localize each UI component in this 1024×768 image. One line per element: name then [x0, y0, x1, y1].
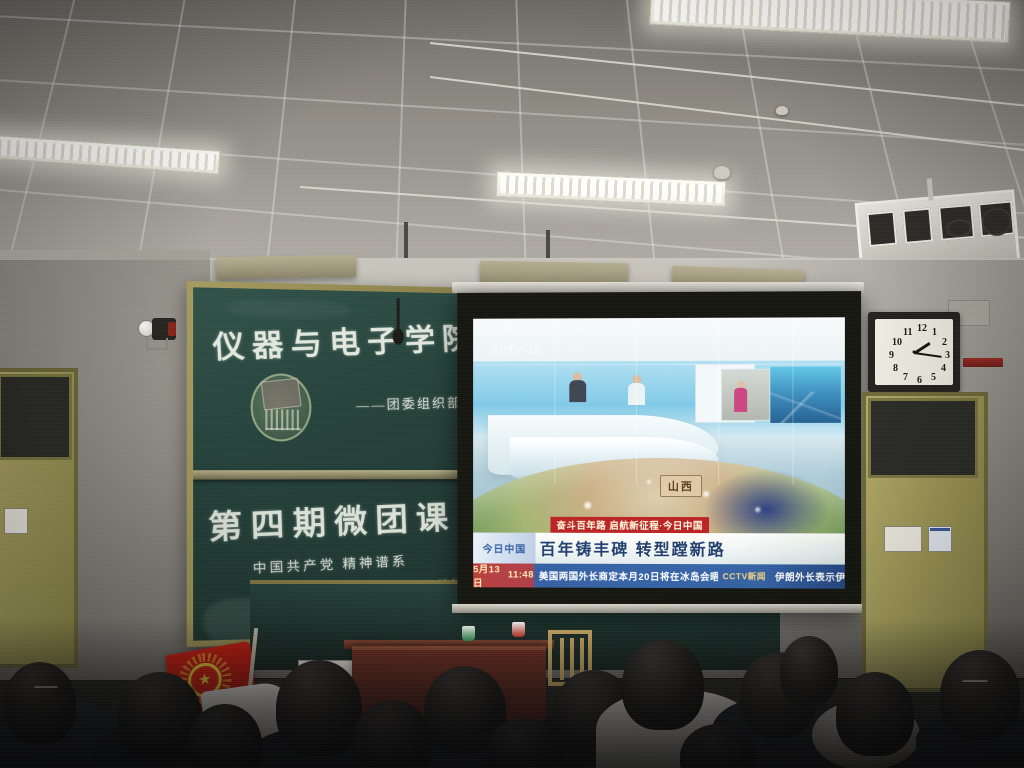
- channel-watermark: CCTV-13: [492, 345, 543, 355]
- ticker-cctv-logo: CCTV新闻: [719, 570, 770, 582]
- clock-numeral: 6: [917, 376, 922, 386]
- emergency-light-bracket: [146, 338, 168, 350]
- smoke-detector-icon: [714, 166, 730, 179]
- clock-numeral: 10: [892, 338, 902, 348]
- right-door-label: [928, 526, 952, 552]
- audience-head: [836, 672, 914, 756]
- classroom-scene: 仪器与电子学院 ——团委组织部 第四期微团课 中国共产党 精神谱系 —— 苏区精…: [0, 0, 1024, 768]
- eyeglasses-icon: [34, 686, 58, 690]
- ticker-news-tail: 伊朗外长表示伊朗将: [770, 569, 845, 583]
- ticker-news-text: 美国两国外长商定本月20日将在冰岛会晤，: [534, 568, 719, 583]
- emergency-light: [138, 318, 178, 344]
- broadcast-image: CCTV-13 山西: [473, 317, 845, 588]
- clock-minute-hand: [914, 352, 942, 358]
- clock-numeral: 7: [903, 373, 908, 383]
- ticker-time: 11:48: [508, 570, 534, 581]
- clock-numeral: 3: [945, 351, 950, 361]
- screen-hanger: [546, 230, 550, 260]
- audience-head: [940, 650, 1020, 740]
- wall-exit-sign: [963, 358, 1003, 367]
- clock-numeral: 11: [903, 328, 912, 338]
- clock-numeral: 1: [932, 328, 937, 338]
- audience-head: [780, 636, 838, 706]
- blackboard-upper-signature: ——团委组织部: [355, 392, 462, 414]
- right-door[interactable]: [862, 392, 988, 692]
- clock-numeral: 5: [931, 373, 936, 383]
- board-hanging-hook: [396, 298, 402, 345]
- alarm-indicator-icon: [168, 322, 176, 336]
- audience-head: [276, 660, 362, 756]
- map-label-shanxi: 山西: [660, 475, 702, 497]
- hanging-light-shade: [216, 255, 356, 279]
- clock-numeral: 2: [942, 338, 947, 348]
- paper-cup: [462, 626, 475, 641]
- ticker-date: 5月13日: [473, 561, 505, 588]
- blackboard-upper-heading: 仪器与电子学院: [211, 313, 476, 367]
- clock-numeral: 8: [893, 364, 898, 374]
- clock-face: 12 1 2 3 4 5 6 7 8 9 10 11: [875, 319, 953, 385]
- screen-hanger: [404, 222, 408, 260]
- studio-videowall-scenery: [770, 366, 841, 423]
- broadcast-ticker: 5月13日 11:48 美国两国外长商定本月20日将在冰岛会晤， CCTV新闻 …: [473, 563, 845, 589]
- broadcast-lower-third: 今日中国 百年铸丰碑 转型蹚新路: [473, 532, 845, 564]
- right-door-window: [868, 398, 978, 478]
- ticker-datetime: 5月13日 11:48: [473, 561, 534, 588]
- blackboard-lower-subtitle: 中国共产党 精神谱系: [252, 550, 408, 577]
- broadcast-headline: 百年铸丰碑 转型蹚新路: [536, 536, 845, 561]
- eyeglasses-icon: [962, 680, 988, 684]
- paper-cup: [512, 622, 525, 637]
- field-reporter-figure: [734, 388, 747, 412]
- chalk-drawing-icon: [251, 373, 312, 441]
- left-door[interactable]: [0, 368, 78, 668]
- smoke-detector-icon: [776, 106, 788, 115]
- clock-numeral: 4: [941, 364, 946, 374]
- projection-screen-weight-bar: [452, 604, 864, 613]
- blackboard-lower-heading: 第四期微团课: [207, 492, 457, 549]
- news-anchor-male: [569, 372, 586, 402]
- broadcast-program-logo: 今日中国: [473, 532, 536, 563]
- projection-screen: CCTV-13 山西: [457, 291, 861, 611]
- left-door-notice: [4, 508, 28, 534]
- chalk-rail: [193, 470, 476, 480]
- clock-numeral: 9: [889, 351, 894, 361]
- news-anchor-female: [628, 375, 645, 405]
- audience-head: [4, 662, 76, 744]
- clock-center-pin: [913, 351, 916, 354]
- wall-clock: 12 1 2 3 4 5 6 7 8 9 10 11: [868, 312, 960, 392]
- clock-numeral: 12: [917, 324, 927, 334]
- left-door-window: [0, 374, 72, 460]
- audience-head: [622, 640, 704, 730]
- right-door-notice: [884, 526, 922, 552]
- broadcast-red-tag: 奋斗百年路 启航新征程·今日中国: [551, 516, 709, 532]
